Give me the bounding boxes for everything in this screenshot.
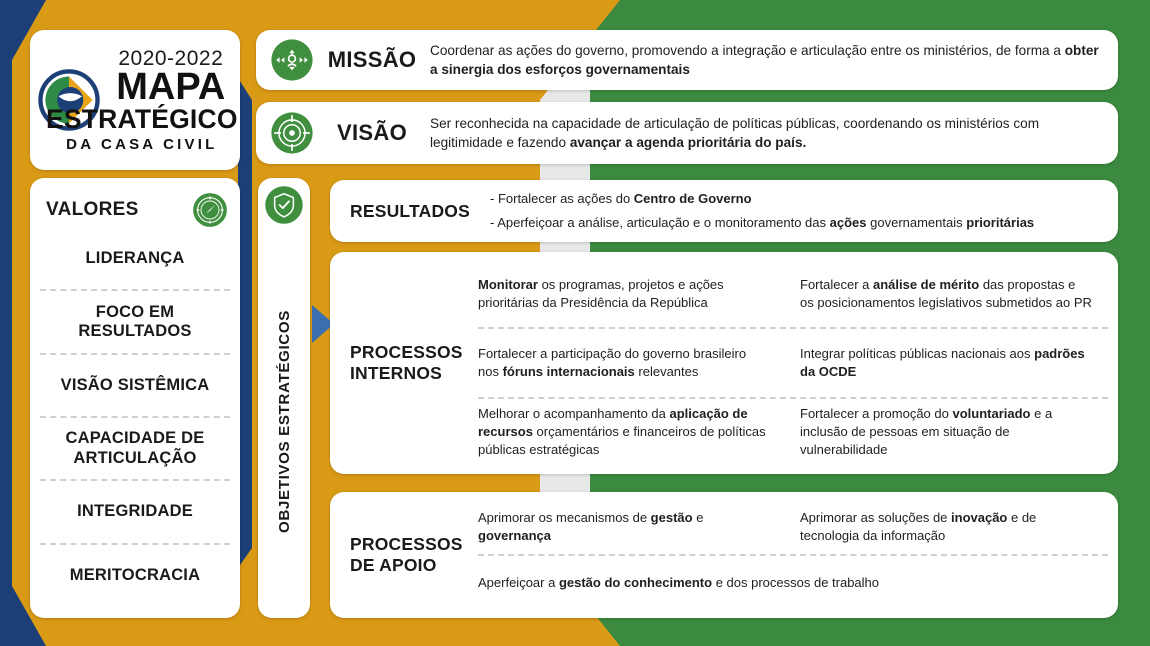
valor-item: MERITOCRACIA xyxy=(40,543,230,606)
valores-card: VALORES LIDERANÇAFOCO EM RESULTADOSVISÃO… xyxy=(30,178,240,618)
objective-cell: Aperfeiçoar a gestão do conhecimento e d… xyxy=(478,568,1108,598)
resultados-lines: - Fortalecer as ações do Centro de Gover… xyxy=(490,188,1108,234)
processos-apoio-card: PROCESSOS DE APOIO Aprimorar os mecanism… xyxy=(330,492,1118,618)
processos-apoio-grid: Aprimorar os mecanismos de gestão e gove… xyxy=(478,500,1108,610)
objective-row: Melhorar o acompanhamento da aplicação d… xyxy=(478,397,1108,466)
objetivos-label-wrapper: OBJETIVOS ESTRATÉGICOS xyxy=(276,225,293,618)
valor-item: VISÃO SISTÊMICA xyxy=(40,353,230,416)
mission-card: MISSÃO Coordenar as ações do governo, pr… xyxy=(256,30,1118,90)
objetivos-estrategicos-column: OBJETIVOS ESTRATÉGICOS xyxy=(258,178,310,618)
logo-subtitle-casa-civil: DA CASA CIVIL xyxy=(46,137,238,152)
objetivos-label: OBJETIVOS ESTRATÉGICOS xyxy=(276,310,293,533)
coordination-network-icon xyxy=(270,38,314,82)
background-blue-divider xyxy=(238,78,252,568)
valor-item: FOCO EM RESULTADOS xyxy=(40,289,230,352)
mission-text: Coordenar as ações do governo, promovend… xyxy=(430,41,1104,80)
objective-cell: Aprimorar os mecanismos de gestão e gove… xyxy=(478,503,786,551)
vision-card: VISÃO Ser reconhecida na capacidade de a… xyxy=(256,102,1118,164)
objective-cell: Fortalecer a análise de mérito das propo… xyxy=(786,270,1108,318)
mission-label: MISSÃO xyxy=(314,47,430,73)
resultados-label: RESULTADOS xyxy=(340,188,490,234)
logo-wordmark: 2020-2022 MAPA ESTRATÉGICO DA CASA CIVIL xyxy=(104,48,238,152)
valores-header: VALORES xyxy=(40,190,230,228)
valor-item: INTEGRIDADE xyxy=(40,479,230,542)
processos-internos-card: PROCESSOS INTERNOS Monitorar os programa… xyxy=(330,252,1118,474)
objective-cell: Melhorar o acompanhamento da aplicação d… xyxy=(478,399,786,465)
vision-label: VISÃO xyxy=(314,120,430,146)
objective-cell: Aprimorar as soluções de inovação e de t… xyxy=(786,503,1108,551)
valores-title: VALORES xyxy=(46,199,139,221)
valor-item: LIDERANÇA xyxy=(40,228,230,289)
objective-cell: Integrar políticas públicas nacionais ao… xyxy=(786,339,1108,387)
objective-row: Monitorar os programas, projetos e ações… xyxy=(478,260,1108,327)
objective-row: Fortalecer a participação do governo bra… xyxy=(478,327,1108,396)
objective-row: Aprimorar os mecanismos de gestão e gove… xyxy=(478,500,1108,554)
objective-cell: Fortalecer a participação do governo bra… xyxy=(478,339,786,387)
objective-cell: Fortalecer a promoção do voluntariado e … xyxy=(786,399,1108,465)
strategic-map-poster: 2020-2022 MAPA ESTRATÉGICO DA CASA CIVIL… xyxy=(0,0,1150,646)
target-icon xyxy=(270,111,314,155)
resultado-line: - Aperfeiçoar a análise, articulação e o… xyxy=(490,215,1108,232)
shield-check-icon xyxy=(264,185,304,225)
objective-row: Aperfeiçoar a gestão do conhecimento e d… xyxy=(478,554,1108,610)
logo-title-mapa: MAPA xyxy=(104,69,238,105)
vision-text: Ser reconhecida na capacidade de articul… xyxy=(430,114,1104,153)
processos-internos-label: PROCESSOS INTERNOS xyxy=(340,260,478,466)
processos-internos-grid: Monitorar os programas, projetos e ações… xyxy=(478,260,1108,466)
resultados-card: RESULTADOS - Fortalecer as ações do Cent… xyxy=(330,180,1118,242)
objective-cell: Monitorar os programas, projetos e ações… xyxy=(478,270,786,318)
logo-title-estrategico: ESTRATÉGICO xyxy=(46,106,238,133)
processos-apoio-label: PROCESSOS DE APOIO xyxy=(340,500,478,610)
resultado-line: - Fortalecer as ações do Centro de Gover… xyxy=(490,191,1108,208)
valores-list: LIDERANÇAFOCO EM RESULTADOSVISÃO SISTÊMI… xyxy=(40,228,230,606)
logo-card: 2020-2022 MAPA ESTRATÉGICO DA CASA CIVIL xyxy=(30,30,240,170)
valor-item: CAPACIDADE DE ARTICULAÇÃO xyxy=(40,416,230,479)
compass-icon xyxy=(192,192,228,228)
